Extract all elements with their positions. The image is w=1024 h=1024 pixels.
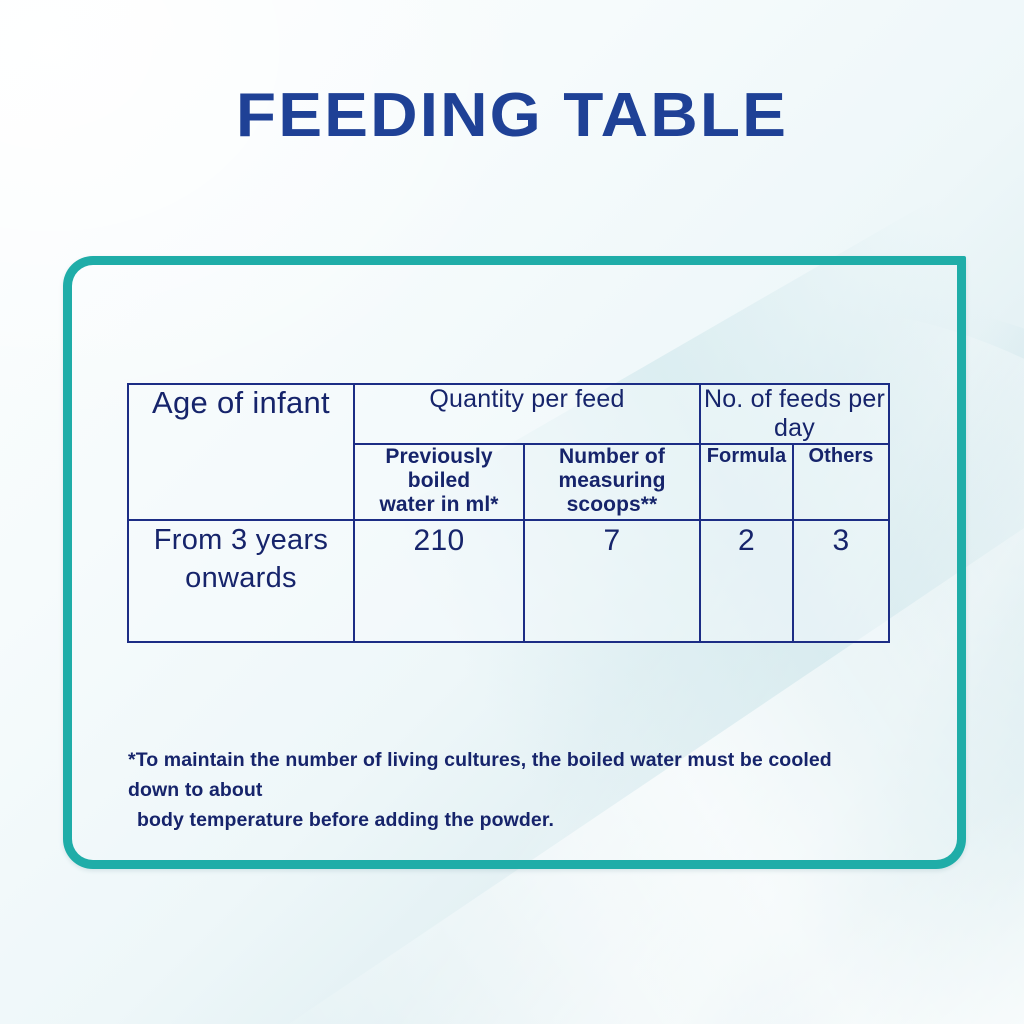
- cell-age-line1: From 3 years: [154, 524, 328, 556]
- page-title: FEEDING TABLE: [0, 80, 1024, 151]
- feeding-table: Age of infant Quantity per feed No. of f…: [127, 383, 890, 643]
- header-others: Others: [793, 444, 889, 520]
- footnote: *To maintain the number of living cultur…: [128, 745, 848, 836]
- header-feeds-per-day: No. of feeds per day: [700, 384, 889, 444]
- header-scoops-line1: Number of: [559, 445, 665, 468]
- header-previously-boiled-water: Previously boiled water in ml*: [354, 444, 524, 520]
- cell-scoops: 7: [524, 520, 700, 642]
- header-quantity-per-feed: Quantity per feed: [354, 384, 700, 444]
- cell-age-line2: onwards: [185, 562, 297, 594]
- header-scoops-line2: measuring scoops**: [558, 469, 665, 516]
- cell-age-range: From 3 years onwards: [128, 520, 354, 642]
- cell-feeds-others: 3: [793, 520, 889, 642]
- table-row: From 3 years onwards 210 7 2 3: [128, 520, 889, 642]
- table-header-row-group: Age of infant Quantity per feed No. of f…: [128, 384, 889, 444]
- footnote-line-2: body temperature before adding the powde…: [128, 805, 848, 835]
- header-formula: Formula: [700, 444, 793, 520]
- header-number-of-scoops: Number of measuring scoops**: [524, 444, 700, 520]
- header-age-of-infant: Age of infant: [128, 384, 354, 520]
- feeding-table-page: FEEDING TABLE Age of infant Quantity per…: [0, 0, 1024, 1024]
- header-water-line1: Previously boiled: [385, 445, 492, 492]
- header-water-line2: water in ml*: [379, 493, 498, 516]
- feeding-table-container: Age of infant Quantity per feed No. of f…: [127, 383, 888, 643]
- cell-feeds-formula: 2: [700, 520, 793, 642]
- footnote-line-1: *To maintain the number of living cultur…: [128, 749, 832, 801]
- cell-water-ml: 210: [354, 520, 524, 642]
